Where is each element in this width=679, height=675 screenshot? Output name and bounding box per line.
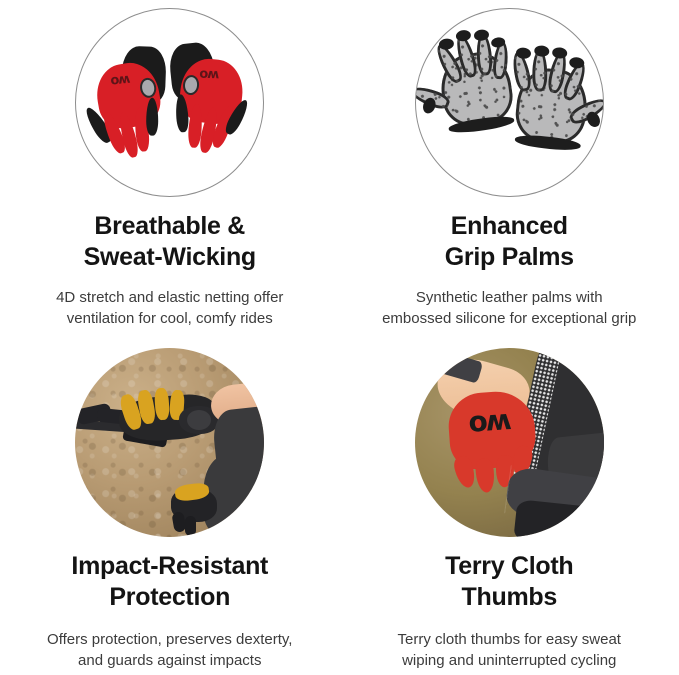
grey-glove-right xyxy=(499,60,604,164)
feature-cell-impact-resistant-protection: Impact-Resistant Protection Offers prote… xyxy=(0,337,340,675)
glove-brand-mark: wo xyxy=(469,407,512,443)
red-glove-right: wo xyxy=(168,49,251,142)
glove-brand-mark: wo xyxy=(200,67,219,83)
feature-heading: Terry Cloth Thumbs xyxy=(445,551,573,613)
feature-description: Offers protection, preserves dexterty, a… xyxy=(47,629,292,671)
feature-grid: wo wo Breathable & Sweat-Wicking 4D stre… xyxy=(0,0,679,675)
feature-cell-terry-cloth-thumbs: wo Terry Cloth Thumbs Terry cloth thumbs… xyxy=(340,337,679,675)
feature-heading: Enhanced Grip Palms xyxy=(445,211,574,273)
feature-description: Synthetic leather palms with embossed si… xyxy=(382,287,636,329)
feature-cell-breathable-sweat-wicking: wo wo Breathable & Sweat-Wicking 4D stre… xyxy=(0,0,340,337)
red-glove-left: wo xyxy=(87,51,175,149)
feature-description: 4D stretch and elastic netting offer ven… xyxy=(56,287,283,329)
feature-image-red-glove-arm-photo: wo xyxy=(415,348,604,537)
feature-cell-enhanced-grip-palms: Enhanced Grip Palms Synthetic leather pa… xyxy=(340,0,679,337)
glove-brand-mark: wo xyxy=(111,72,131,89)
feature-image-red-gloves: wo wo xyxy=(75,8,264,197)
feature-heading: Breathable & Sweat-Wicking xyxy=(84,211,256,273)
feature-heading: Impact-Resistant Protection xyxy=(71,551,268,613)
feature-image-handlebar-grip-photo xyxy=(75,348,264,537)
feature-description: Terry cloth thumbs for easy sweat wiping… xyxy=(398,629,621,671)
feature-image-grey-palm-gloves xyxy=(415,8,604,197)
